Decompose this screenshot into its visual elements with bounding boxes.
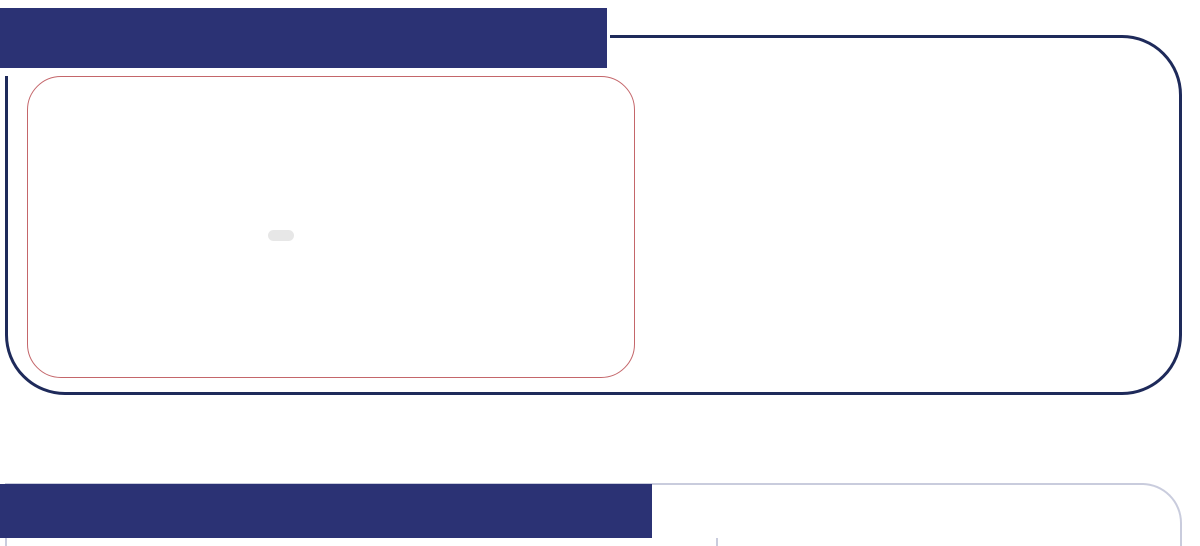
dont-connector-label [268, 230, 294, 241]
column-divider-tick [716, 538, 718, 546]
figures-section [0, 0, 1200, 455]
operations-title-banner [0, 484, 652, 538]
operations-section [0, 470, 1200, 546]
stats-grid [0, 0, 1200, 455]
